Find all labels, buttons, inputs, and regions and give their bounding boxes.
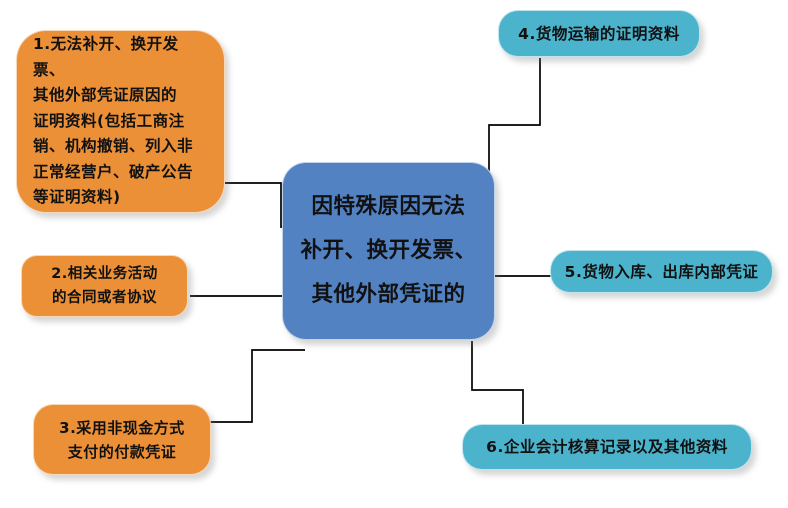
source-node-3-label: 3.采用非现金方式 支付的付款凭证 (42, 416, 202, 464)
source-node-3[interactable]: 3.采用非现金方式 支付的付款凭证 (33, 404, 211, 475)
diagram-canvas: 1.无法补开、换开发票、 其他外部凭证原因的 证明资料(包括工商注 销、机构撤销… (0, 0, 788, 508)
target-node-6[interactable]: 6.企业会计核算记录以及其他资料 (462, 424, 752, 470)
target-node-5-label: 5.货物入库、出库内部凭证 (557, 261, 766, 283)
target-node-5[interactable]: 5.货物入库、出库内部凭证 (550, 250, 773, 293)
source-node-2-label: 2.相关业务活动 的合同或者协议 (30, 262, 179, 310)
source-node-1[interactable]: 1.无法补开、换开发票、 其他外部凭证原因的 证明资料(包括工商注 销、机构撤销… (16, 30, 225, 213)
center-node-label: 因特殊原因无法 补开、换开发票、 其他外部凭证的 (293, 185, 484, 317)
source-node-2[interactable]: 2.相关业务活动 的合同或者协议 (21, 255, 188, 317)
connector-node3-to-center (209, 350, 305, 422)
target-node-4-label: 4.货物运输的证明资料 (505, 23, 693, 45)
target-node-6-label: 6.企业会计核算记录以及其他资料 (469, 436, 745, 458)
center-node[interactable]: 因特殊原因无法 补开、换开发票、 其他外部凭证的 (282, 162, 495, 340)
connector-center-to-node6 (472, 341, 523, 425)
connector-center-to-node4 (489, 58, 540, 175)
source-node-1-label: 1.无法补开、换开发票、 其他外部凭证原因的 证明资料(包括工商注 销、机构撤销… (33, 32, 210, 211)
target-node-4[interactable]: 4.货物运输的证明资料 (498, 10, 700, 57)
